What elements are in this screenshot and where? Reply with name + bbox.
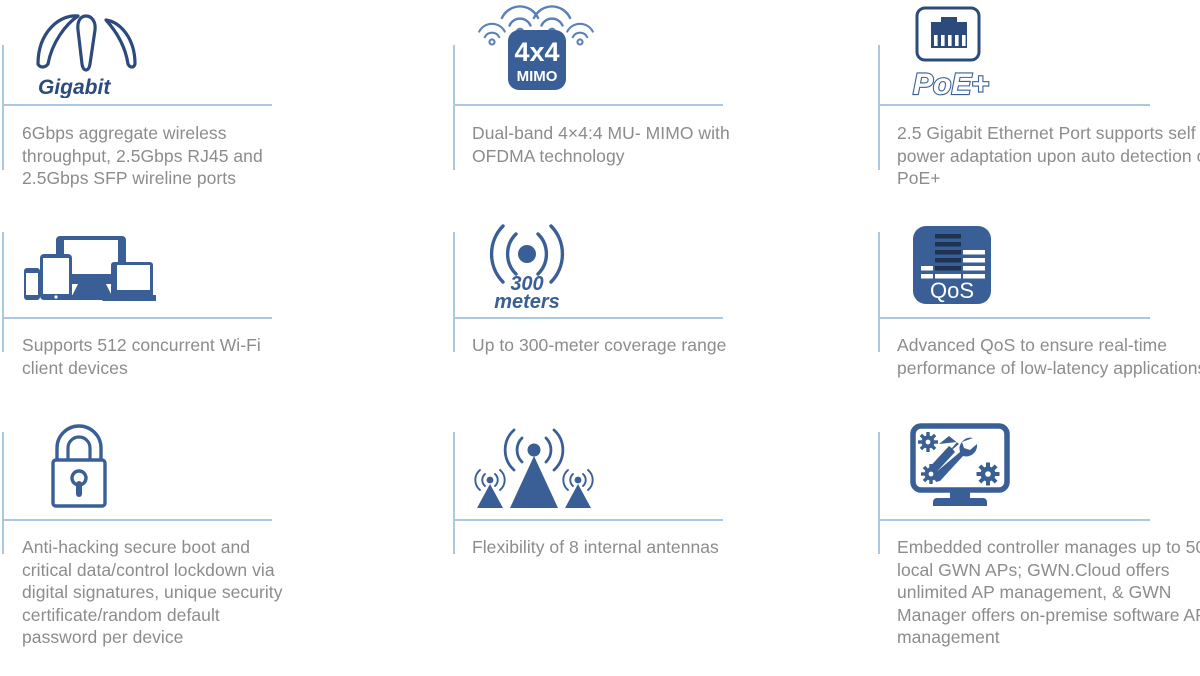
cell-divider-vertical	[878, 232, 880, 352]
feature-cell-gigabit: Gigabit 6Gbps aggregate wireless through…	[0, 0, 425, 222]
feature-cell-coverage: 300 meters Up to 300-meter coverage rang…	[425, 222, 850, 422]
feature-cell-poe: PoE+ 2.5 Gigabit Ethernet Port supports …	[850, 0, 1200, 222]
feature-description: 2.5 Gigabit Ethernet Port supports self …	[897, 122, 1200, 190]
poe-icon-label: PoE+	[913, 68, 989, 98]
cell-divider-horizontal	[878, 317, 1150, 319]
cell-divider-horizontal	[2, 104, 272, 106]
feature-description: Supports 512 concurrent Wi-Fi client dev…	[22, 334, 292, 379]
cell-divider-horizontal	[453, 317, 723, 319]
feature-grid: Gigabit 6Gbps aggregate wireless through…	[0, 0, 1200, 676]
gigabit-speedometer-icon: Gigabit	[22, 0, 152, 98]
antenna-towers-icon	[470, 422, 610, 512]
gigabit-icon-label: Gigabit	[38, 76, 111, 98]
cell-divider-vertical	[453, 232, 455, 352]
mimo-icon-sublabel: MIMO	[517, 68, 558, 85]
qos-equalizer-icon: QoS	[895, 222, 1015, 310]
four-by-four-mimo-icon: 4x4 MIMO	[470, 0, 600, 98]
cell-divider-horizontal	[2, 519, 272, 521]
cell-divider-horizontal	[453, 104, 723, 106]
feature-description: 6Gbps aggregate wireless throughput, 2.5…	[22, 122, 292, 190]
feature-cell-qos: QoS Advanced QoS to ensure real-time per…	[850, 222, 1200, 422]
cell-divider-vertical	[2, 45, 4, 170]
feature-description: Advanced QoS to ensure real-time perform…	[897, 334, 1200, 379]
feature-cell-controller: Embedded controller manages up to 50 loc…	[850, 422, 1200, 676]
cell-divider-vertical	[453, 45, 455, 170]
feature-cell-antennas: Flexibility of 8 internal antennas	[425, 422, 850, 676]
radio-waves-coverage-icon: 300 meters	[470, 222, 594, 310]
cell-divider-horizontal	[453, 519, 723, 521]
cell-divider-horizontal	[878, 104, 1150, 106]
monitor-tools-gears-icon	[895, 422, 1025, 512]
cell-divider-horizontal	[2, 317, 272, 319]
cell-divider-vertical	[878, 432, 880, 554]
mimo-icon-label: 4x4	[514, 37, 559, 67]
cell-divider-vertical	[2, 232, 4, 352]
qos-icon-label: QoS	[930, 278, 974, 303]
coverage-icon-sublabel: meters	[494, 291, 560, 310]
padlock-icon	[22, 422, 142, 512]
feature-cell-clients: Supports 512 concurrent Wi-Fi client dev…	[0, 222, 425, 422]
feature-cell-security: Anti-hacking secure boot and critical da…	[0, 422, 425, 676]
feature-description: Anti-hacking secure boot and critical da…	[22, 536, 292, 649]
cell-divider-vertical	[878, 45, 880, 170]
cell-divider-horizontal	[878, 519, 1150, 521]
cell-divider-vertical	[2, 432, 4, 554]
feature-description: Flexibility of 8 internal antennas	[472, 536, 752, 559]
feature-cell-mimo: 4x4 MIMO Dual-band 4×4:4 MU- MIMO with O…	[425, 0, 850, 222]
feature-description: Dual-band 4×4:4 MU- MIMO with OFDMA tech…	[472, 122, 752, 167]
feature-description: Embedded controller manages up to 50 loc…	[897, 536, 1200, 649]
feature-description: Up to 300-meter coverage range	[472, 334, 752, 357]
poe-plus-rj45-icon: PoE+	[895, 0, 1025, 98]
cell-divider-vertical	[453, 432, 455, 554]
multiple-devices-icon	[22, 222, 156, 310]
